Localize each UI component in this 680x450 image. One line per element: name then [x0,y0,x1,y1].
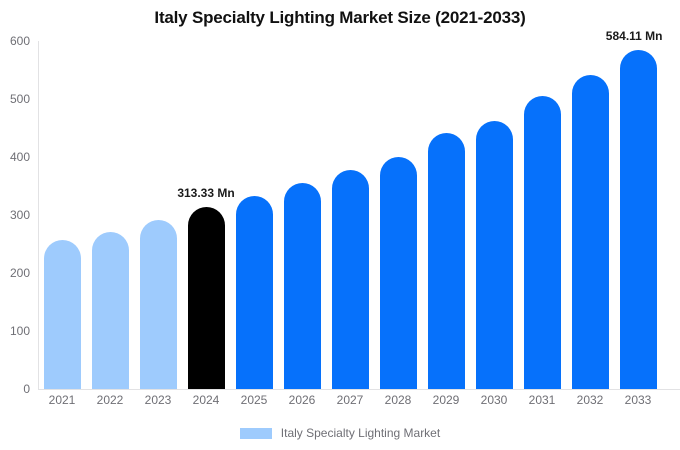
x-axis-tick-label-2032: 2032 [577,393,604,407]
y-axis-tick-label: 600 [10,34,30,48]
y-axis-tick-label: 300 [10,208,30,222]
x-axis-tick-label-2029: 2029 [433,393,460,407]
bar-2027[interactable] [332,170,369,389]
bar-2022[interactable] [92,232,129,389]
bar-2033[interactable]: 584.11 Mn [620,50,657,389]
y-axis-tick-label: 400 [10,150,30,164]
x-axis-tick-label-2023: 2023 [145,393,172,407]
bar-2030[interactable] [476,121,513,389]
legend-label: Italy Specialty Lighting Market [281,426,440,440]
chart-legend: Italy Specialty Lighting Market [0,426,680,440]
x-axis-tick-label-2031: 2031 [529,393,556,407]
x-axis-tick-label-2022: 2022 [97,393,124,407]
bar-2032[interactable] [572,75,609,389]
legend-swatch-icon [240,428,272,439]
bar-series: 313.33 Mn584.11 Mn [38,41,680,389]
bar-value-label-2033: 584.11 Mn [606,29,663,43]
bar-2021[interactable] [44,240,81,389]
bar-2026[interactable] [284,183,321,389]
x-axis-tick-label-2024: 2024 [193,393,220,407]
x-axis-tick-label-2026: 2026 [289,393,316,407]
y-axis-tick-label: 200 [10,266,30,280]
chart-title: Italy Specialty Lighting Market Size (20… [0,8,680,28]
bar-2023[interactable] [140,220,177,389]
x-axis-tick-label-2033: 2033 [625,393,652,407]
bar-value-label-2024: 313.33 Mn [177,186,234,200]
bar-2024[interactable]: 313.33 Mn [188,207,225,389]
y-axis-tick-label: 100 [10,324,30,338]
bar-2031[interactable] [524,96,561,389]
x-axis-tick-label-2025: 2025 [241,393,268,407]
bar-2025[interactable] [236,196,273,389]
x-axis: 2021202220232024202520262027202820292030… [38,393,680,413]
x-axis-tick-label-2028: 2028 [385,393,412,407]
bar-2029[interactable] [428,133,465,389]
x-axis-line [38,389,680,390]
bar-2028[interactable] [380,157,417,389]
x-axis-tick-label-2027: 2027 [337,393,364,407]
y-axis-tick-label: 500 [10,92,30,106]
chart-container: Italy Specialty Lighting Market Size (20… [0,0,680,450]
legend-item[interactable]: Italy Specialty Lighting Market [240,426,440,440]
y-axis-tick-label: 0 [23,382,30,396]
x-axis-tick-label-2021: 2021 [49,393,76,407]
x-axis-tick-label-2030: 2030 [481,393,508,407]
